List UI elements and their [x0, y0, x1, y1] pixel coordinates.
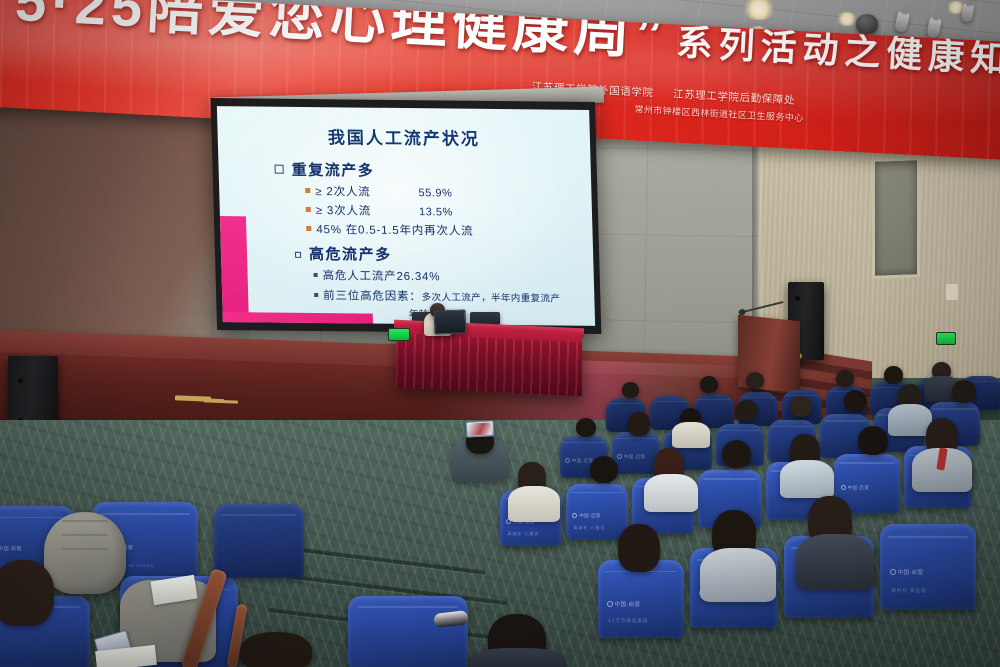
audience-head: [576, 418, 596, 437]
audience-body: [796, 534, 874, 590]
small-square-bullet-icon: [305, 188, 310, 193]
small-square-bullet-icon: [306, 207, 311, 212]
slide-accent-bar-vertical: [220, 216, 249, 326]
audience-head: [952, 380, 976, 403]
slide-heading-1-text: 重复流产多: [291, 162, 374, 180]
presentation-slide: 我国人工流产状况 重复流产多 ≥ 2次人流 55.9% ≥ 3次人流 13.5%…: [217, 106, 595, 326]
seat-brand-print: 中国·启窗: [841, 485, 894, 492]
slide-bullet-2-1-label: 高危人工流产26.34%: [322, 270, 440, 283]
audience-head: [790, 396, 812, 417]
slide-heading-2: 高危流产多: [295, 243, 392, 265]
exit-sign-left: [388, 328, 410, 341]
seat-ad-print: 17万方助您美园: [608, 618, 673, 624]
phone-screen: [469, 422, 492, 435]
audience-head: [858, 426, 888, 455]
seat[interactable]: [214, 504, 304, 578]
audience-body: [470, 648, 566, 667]
ceiling-downlight: [836, 12, 858, 26]
projection-screen: 我国人工流产状况 重复流产多 ≥ 2次人流 55.9% ≥ 3次人流 13.5%…: [211, 98, 602, 334]
presenter-laptop: [434, 309, 467, 334]
small-square-bullet-icon: [314, 273, 318, 277]
audience-head: [0, 560, 54, 626]
wall-outlet: [946, 284, 958, 300]
slide-bullet-1-2: ≥ 3次人流 13.5%: [306, 202, 453, 220]
seat-ad-print: 真诚在 心服务: [507, 531, 554, 537]
slide-bullet-1-2-value: 13.5%: [419, 206, 453, 218]
exit-sign-left-glow: [389, 329, 409, 340]
seat[interactable]: 中国·启窗 真诚在 心服务: [566, 484, 628, 540]
wall-recessed-panel: [872, 157, 920, 279]
seat-brand-print: 中国·启窗: [607, 601, 676, 610]
audience-body: [700, 548, 776, 602]
exit-sign-right-glow: [937, 333, 955, 344]
audience-body: [780, 460, 834, 498]
security-camera-icon: [856, 14, 878, 34]
slide-bullet-2-2-label: 前三位高危因素：: [323, 290, 422, 303]
presenter-table-drape: [396, 334, 582, 396]
audience-head: [836, 370, 854, 387]
slide-title: 我国人工流产状况: [217, 122, 590, 151]
audience-body: [644, 474, 698, 512]
audience-head: [746, 372, 764, 389]
audience-head: [884, 366, 903, 384]
seat-brand-print: 中国·启窗: [572, 513, 622, 520]
slide-bullet-1-3-label: 45% 在0.5-1.5年内再次人流: [316, 224, 473, 238]
seat-ad-print: 真诚在 心服务: [573, 525, 620, 531]
small-square-bullet-icon: [306, 226, 311, 231]
slide-heading-2-text: 高危流产多: [309, 246, 392, 264]
slide-bullet-1-2-label: ≥ 3次人流: [316, 205, 372, 218]
slide-heading-1: 重复流产多: [274, 159, 374, 181]
seat-ad-print: 新时代 新征程: [892, 588, 965, 594]
audience-head: [722, 440, 751, 468]
audience-puffer-jacket-hood: [44, 512, 126, 594]
audience-head: [628, 412, 650, 436]
slide-bullet-1-1-value: 55.9%: [418, 187, 452, 199]
slide-bullet-2-1: 高危人工流产26.34%: [313, 267, 440, 284]
audience-head: [590, 456, 618, 483]
slide-accent-bar-horizontal: [223, 312, 374, 326]
audience-head: [240, 632, 312, 667]
audience-head: [736, 400, 758, 421]
seat[interactable]: 中国·启窗: [612, 432, 660, 474]
slide-bullet-1-1: ≥ 2次人流 55.9%: [305, 183, 452, 201]
audience-body: [672, 422, 710, 448]
audience-head: [618, 524, 660, 572]
seat-brand-print: 中国·启窗: [890, 569, 967, 578]
audience-head: [622, 382, 639, 398]
seat[interactable]: [348, 596, 468, 667]
slide-bullet-2-2-value: 多次人工流产，半年内重复流产: [422, 292, 561, 304]
puffer-seam: [62, 520, 108, 522]
square-bullet-icon: [275, 165, 284, 174]
small-square-bullet-icon: [314, 293, 318, 297]
audience-head: [844, 390, 867, 412]
slide-bullet-1-3: 45% 在0.5-1.5年内再次人流: [306, 221, 473, 239]
seat-brand-print: 中国·启窗: [617, 454, 655, 461]
exit-sign-right: [936, 332, 956, 345]
square-bullet-icon: [295, 252, 301, 258]
audience-body: [508, 486, 560, 522]
seat[interactable]: 中国·启窗 新时代 新征程: [880, 524, 976, 610]
lecture-hall-photo: 5·25陪爱您心理健康周” 系列活动之健康知识讲座 江苏理工学院外国语学院 江苏…: [0, 0, 1000, 667]
slide-bullet-1-1-label: ≥ 2次人流: [315, 186, 371, 199]
audience-head: [700, 376, 718, 393]
